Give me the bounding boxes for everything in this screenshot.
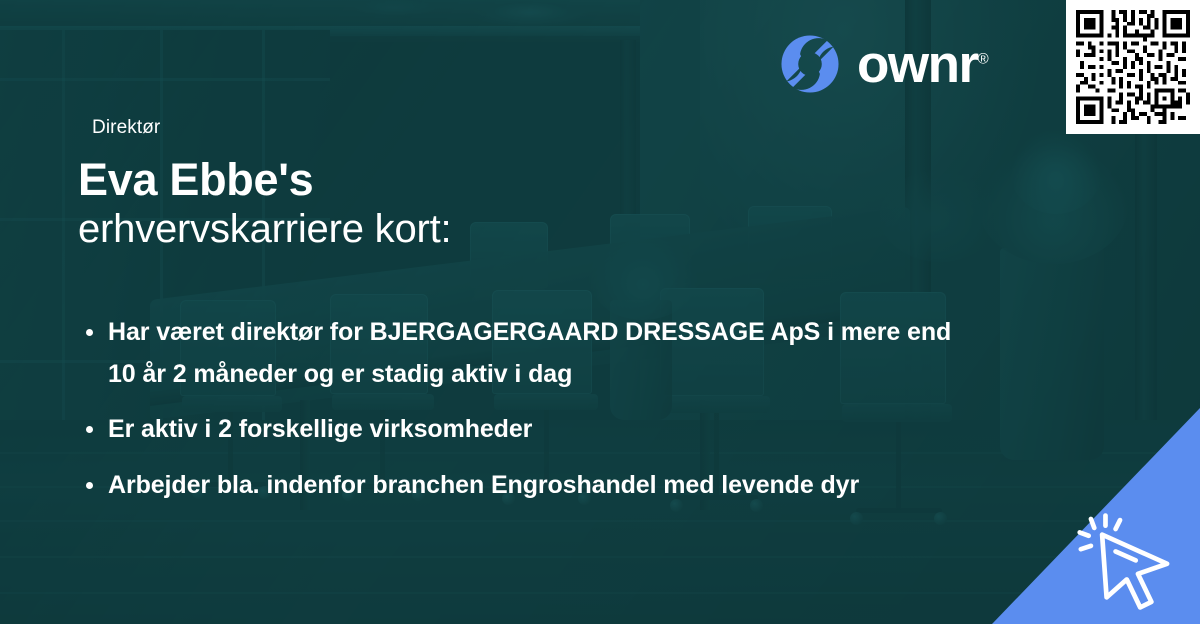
business-career-card: Direktør Eva Ebbe's erhvervskarriere kor… — [0, 0, 1200, 624]
bullet-dot-icon — [86, 482, 93, 489]
registered-trademark-icon: ® — [978, 50, 989, 67]
list-item: Er aktiv i 2 forskellige virksomheder — [78, 409, 958, 451]
qr-code-icon — [1076, 10, 1190, 124]
list-item-label: Er aktiv i 2 forskellige virksomheder — [108, 415, 532, 443]
click-cursor-icon — [1073, 510, 1185, 622]
ownr-wordmark: ownr® — [857, 38, 989, 91]
list-item-label: Har været direktør for BJERGAGERGAARD DR… — [108, 318, 951, 388]
list-item: Har været direktør for BJERGAGERGAARD DR… — [78, 312, 958, 395]
ownr-wordmark-text: ownr — [857, 35, 978, 94]
bullet-dot-icon — [86, 329, 93, 336]
ownr-circle-swirl-icon — [779, 33, 841, 95]
ownr-logo[interactable]: ownr® — [779, 33, 989, 95]
role-badge: Direktør — [80, 113, 172, 144]
page-title: Eva Ebbe's erhvervskarriere kort: — [78, 156, 451, 253]
qr-code-panel[interactable] — [1066, 0, 1200, 134]
career-highlights-list: Har været direktør for BJERGAGERGAARD DR… — [78, 312, 958, 506]
page-title-line1: Eva Ebbe's — [78, 156, 451, 205]
page-title-line2: erhvervskarriere kort: — [78, 205, 451, 253]
list-item: Arbejder bla. indenfor branchen Engrosha… — [78, 465, 958, 507]
bullet-dot-icon — [86, 426, 93, 433]
list-item-label: Arbejder bla. indenfor branchen Engrosha… — [108, 471, 859, 499]
